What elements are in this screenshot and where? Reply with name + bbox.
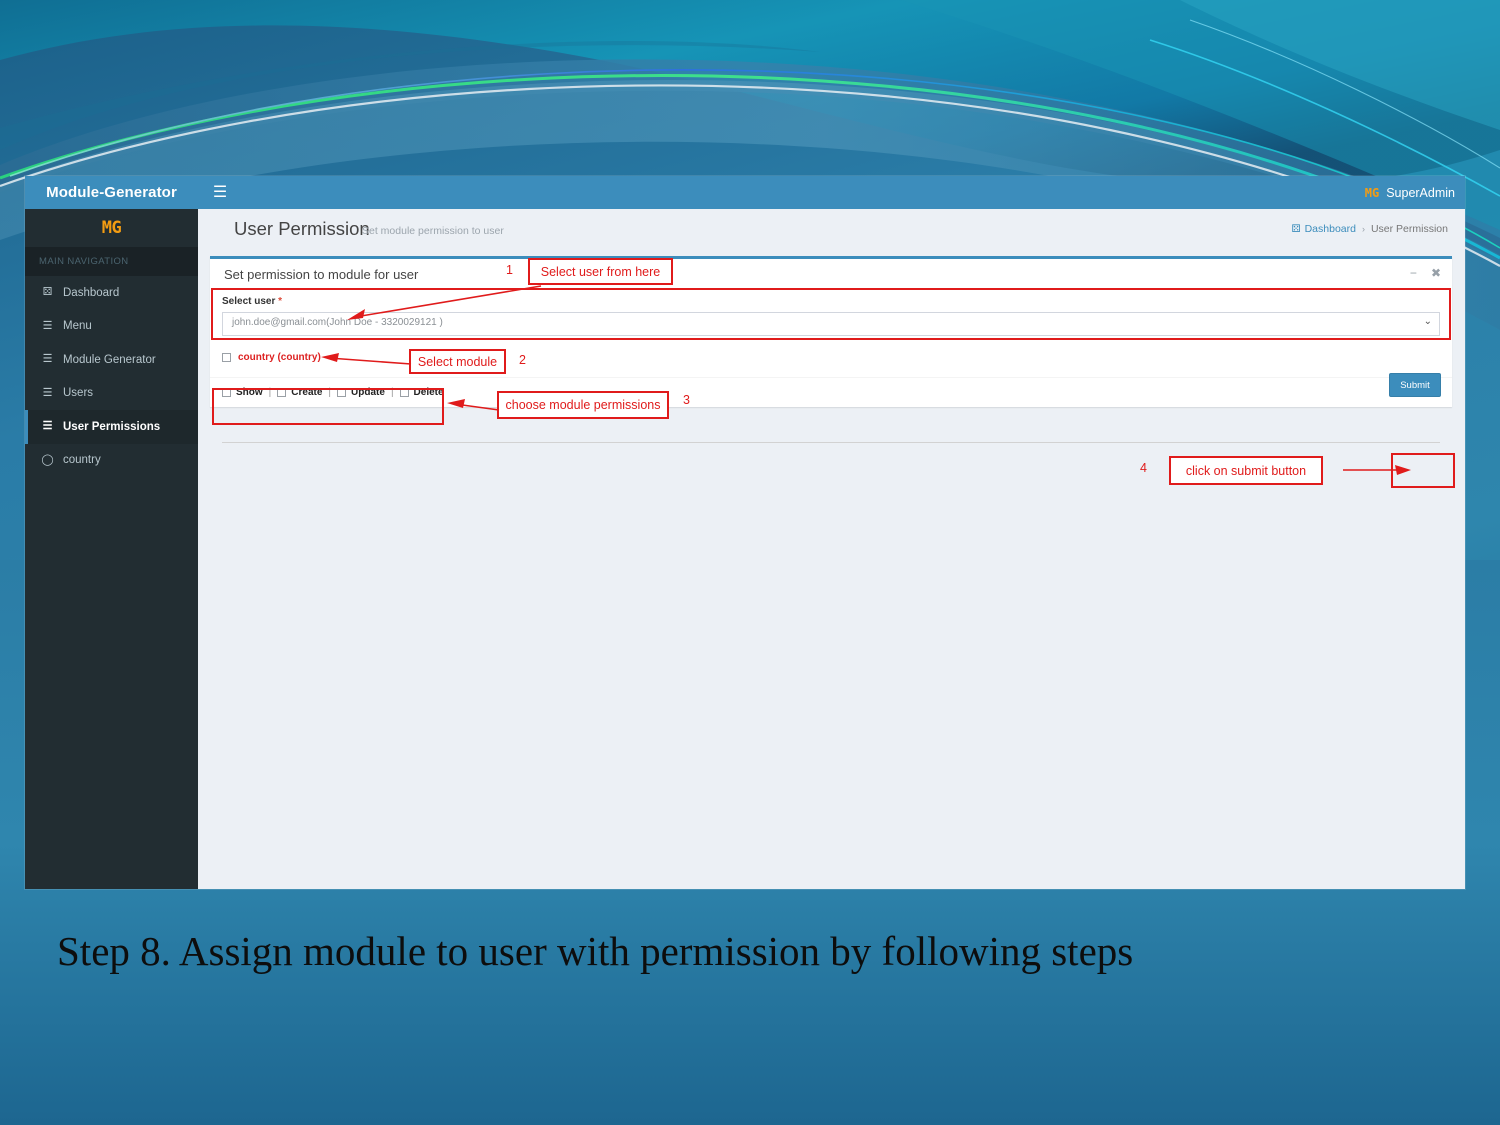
sidebar-item-menu[interactable]: ☰ Menu — [25, 310, 198, 344]
sidebar-item-country[interactable]: ◯ country — [25, 444, 198, 478]
bars-icon: ☰ — [41, 421, 54, 432]
annotation-label-1: Select user from here — [528, 258, 673, 285]
dashboard-icon: ⚄ — [41, 287, 54, 298]
annotation-label-4: click on submit button — [1169, 456, 1323, 485]
sidebar: MG MAIN NAVIGATION ⚄ Dashboard ☰ Menu ☰ … — [25, 209, 198, 889]
sidebar-item-label: Module Generator — [63, 354, 156, 366]
top-navbar: Module-Generator ☰ MG SuperAdmin — [25, 176, 1465, 209]
breadcrumb-dashboard[interactable]: ⚄ Dashboard — [1291, 223, 1356, 235]
sidebar-section-label: MAIN NAVIGATION — [25, 247, 198, 276]
card-tools: − ✖ — [1410, 267, 1441, 279]
admin-dashboard-screenshot: Module-Generator ☰ MG SuperAdmin MG MAIN… — [25, 176, 1465, 889]
annotation-number-4: 4 — [1140, 461, 1147, 475]
sidebar-item-dashboard[interactable]: ⚄ Dashboard — [25, 276, 198, 310]
sidebar-item-label: User Permissions — [63, 421, 160, 433]
annotation-number-2: 2 — [519, 353, 526, 367]
breadcrumb-separator: › — [1362, 224, 1365, 234]
close-icon[interactable]: ✖ — [1431, 267, 1441, 279]
slide-title: Step 8. Assign module to user with permi… — [57, 920, 1357, 982]
brand-logo[interactable]: Module-Generator — [25, 176, 198, 209]
sidebar-item-module-generator[interactable]: ☰ Module Generator — [25, 343, 198, 377]
minus-icon[interactable]: − — [1410, 267, 1417, 279]
annotation-number-1: 1 — [506, 263, 513, 277]
module-checkbox[interactable] — [222, 353, 231, 362]
bars-icon: ☰ — [41, 321, 54, 332]
module-label: country (country) — [238, 352, 321, 363]
annotation-outline-select-user — [211, 288, 1451, 340]
page-subtitle: Set module permission to user — [362, 225, 504, 237]
sidebar-item-users[interactable]: ☰ Users — [25, 377, 198, 411]
content-header: User Permission Set module permission to… — [198, 209, 1465, 249]
hamburger-icon[interactable]: ☰ — [207, 176, 233, 209]
submit-button[interactable]: Submit — [1389, 373, 1441, 397]
breadcrumb: ⚄ Dashboard › User Permission — [1291, 223, 1448, 235]
navbar-user-menu[interactable]: MG SuperAdmin — [1365, 176, 1455, 209]
annotation-outline-submit — [1391, 453, 1455, 488]
sidebar-item-user-permissions[interactable]: ☰ User Permissions — [25, 410, 198, 444]
bars-icon: ☰ — [41, 388, 54, 399]
sidebar-logo: MG — [25, 209, 198, 247]
breadcrumb-dashboard-label: Dashboard — [1305, 223, 1356, 235]
dashboard-icon: ⚄ — [1291, 223, 1300, 235]
user-name: SuperAdmin — [1386, 186, 1455, 200]
annotation-outline-permissions — [212, 388, 444, 425]
page-title: User Permission — [234, 218, 370, 240]
brand-name: Module-Generator — [46, 184, 177, 201]
user-logo-icon: MG — [1365, 186, 1379, 200]
annotation-arrow-3 — [443, 398, 501, 416]
sidebar-item-label: Users — [63, 387, 93, 399]
annotation-label-3: choose module permissions — [497, 391, 669, 419]
breadcrumb-current: User Permission — [1371, 223, 1448, 235]
divider — [222, 442, 1440, 443]
bars-icon: ☰ — [41, 354, 54, 365]
card-title: Set permission to module for user — [224, 267, 418, 282]
annotation-number-3: 3 — [683, 393, 690, 407]
sidebar-item-label: Dashboard — [63, 287, 119, 299]
sidebar-logo-text: MG — [102, 218, 121, 238]
sidebar-item-label: Menu — [63, 320, 92, 332]
annotation-arrow-2 — [317, 352, 413, 370]
module-checkbox-group[interactable]: country (country) — [222, 352, 321, 363]
circle-icon: ◯ — [41, 455, 54, 466]
annotation-label-2: Select module — [409, 349, 506, 374]
sidebar-item-label: country — [63, 454, 101, 466]
